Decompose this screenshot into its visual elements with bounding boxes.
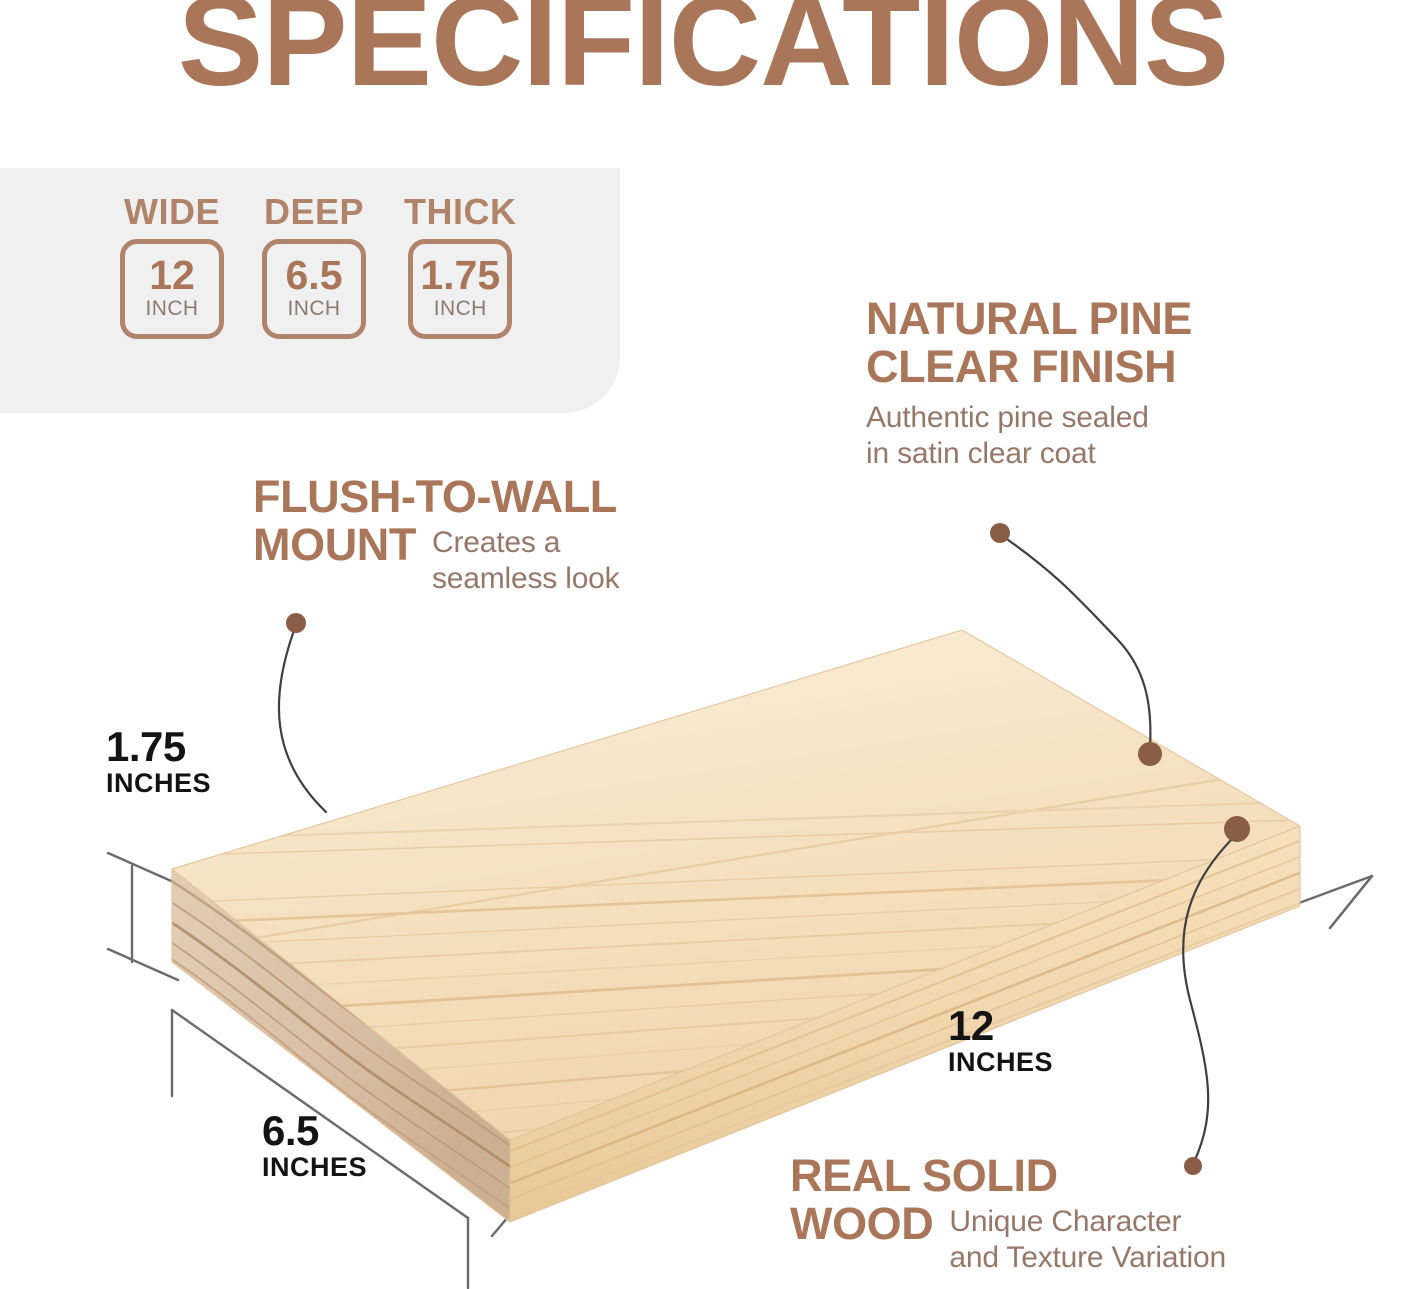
dimension-value-width: 12 [948,1005,1053,1047]
callout-flush-heading-line2: MOUNT [253,521,416,569]
callout-wood-second-row: WOOD Unique Character and Texture Variat… [790,1200,1226,1276]
spec-unit-thick: INCH [434,296,487,321]
callout-real-solid-wood: REAL SOLID WOOD Unique Character and Tex… [790,1152,1226,1276]
callout-pine-subtitle-line2: in satin clear coat [866,436,1192,472]
dimension-label-thickness: 1.75 INCHES [106,726,211,799]
callout-flush-subtitle-line2: seamless look [432,561,619,597]
dot-wood-plank [1224,816,1250,842]
callout-wood-subtitle-line2: and Texture Variation [949,1240,1226,1276]
dot-pine-plank [1138,742,1162,766]
page-title: SPECIFICATIONS [0,0,1406,106]
specifications-infographic: SPECIFICATIONS WIDE 12 INCH DEEP 6.5 INC… [0,0,1406,1289]
dimension-value-depth: 6.5 [262,1110,367,1152]
spec-box-deep: 6.5 INCH [262,239,366,339]
spec-item-thick: THICK 1.75 INCH [404,194,517,339]
callout-wood-heading-line1: REAL SOLID [790,1152,1226,1200]
callout-flush-heading-line1: FLUSH-TO-WALL [253,473,619,521]
spec-item-wide: WIDE 12 INCH [120,194,224,339]
callout-wood-subtitle: Unique Character and Texture Variation [949,1204,1226,1276]
dimension-label-depth: 6.5 INCHES [262,1110,367,1183]
callout-pine-heading-line1: NATURAL PINE [866,295,1192,343]
callout-pine-subtitle-line1: Authentic pine sealed [866,400,1192,436]
spec-value-thick: 1.75 [420,256,500,295]
dimension-unit-width: INCHES [948,1047,1053,1078]
callout-flush-to-wall: FLUSH-TO-WALL MOUNT Creates a seamless l… [253,473,619,597]
dimension-label-width: 12 INCHES [948,1005,1053,1078]
dimension-unit-thickness: INCHES [106,768,211,799]
dot-pine-label [990,523,1010,543]
dimension-value-thickness: 1.75 [106,726,211,768]
callout-wood-subtitle-line1: Unique Character [949,1204,1226,1240]
callout-pine-heading: NATURAL PINE CLEAR FINISH [866,295,1192,390]
spec-box-thick: 1.75 INCH [408,239,512,339]
callout-flush-subtitle-line1: Creates a [432,525,619,561]
dot-flush [286,613,306,633]
callout-natural-pine: NATURAL PINE CLEAR FINISH Authentic pine… [866,295,1192,472]
spec-card: WIDE 12 INCH DEEP 6.5 INCH THICK 1.75 IN… [0,168,620,413]
spec-box-wide: 12 INCH [120,239,224,339]
spec-value-wide: 12 [149,256,195,295]
spec-unit-deep: INCH [288,296,341,321]
spec-value-deep: 6.5 [286,256,343,295]
callout-pine-heading-line2: CLEAR FINISH [866,343,1192,391]
spec-item-deep: DEEP 6.5 INCH [262,194,366,339]
spec-label-wide: WIDE [124,194,220,230]
callout-flush-subtitle: Creates a seamless look [432,525,619,597]
spec-label-thick: THICK [404,194,517,230]
callout-flush-second-row: MOUNT Creates a seamless look [253,521,619,597]
callout-wood-heading-line2: WOOD [790,1200,933,1248]
spec-row: WIDE 12 INCH DEEP 6.5 INCH THICK 1.75 IN… [120,194,517,339]
spec-label-deep: DEEP [264,194,364,230]
leader-flush [279,625,326,812]
dimension-unit-depth: INCHES [262,1152,367,1183]
callout-pine-subtitle: Authentic pine sealed in satin clear coa… [866,400,1192,472]
spec-unit-wide: INCH [146,296,199,321]
